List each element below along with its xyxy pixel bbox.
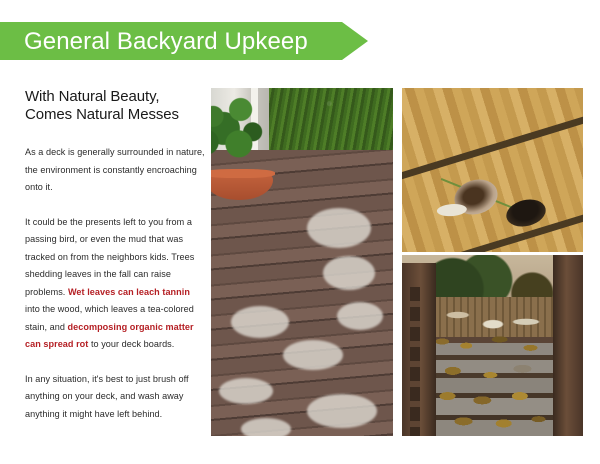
subtitle-line-1: With Natural Beauty, — [25, 88, 205, 106]
mud-splatter — [307, 394, 377, 428]
mud-splatter — [323, 256, 375, 290]
photo-deck-dirty — [211, 88, 393, 436]
page-title: General Backyard Upkeep — [24, 23, 308, 61]
photo-leafy-stairs — [402, 255, 583, 436]
mud-splatter — [219, 378, 273, 404]
left-railing — [402, 263, 436, 436]
text-run: It could be the presents left to you fro… — [25, 217, 194, 297]
paragraph-intro: As a deck is generally surrounded in nat… — [25, 144, 205, 197]
subtitle-line-2: Comes Natural Messes — [25, 106, 205, 124]
text-run: In any situation, it's best to just brus… — [25, 374, 189, 419]
paragraph-sources-of-mess: It could be the presents left to you fro… — [25, 214, 205, 354]
right-railing — [553, 255, 583, 436]
subtitle: With Natural Beauty, Comes Natural Messe… — [25, 88, 205, 124]
mud-splatter — [241, 418, 291, 436]
mud-splatter — [231, 306, 289, 338]
photo-bird-droppings — [402, 88, 583, 252]
mud-splatter — [283, 340, 343, 370]
text-run: to your deck boards. — [88, 339, 174, 349]
mud-splatter — [307, 208, 371, 248]
article-text-column: With Natural Beauty, Comes Natural Messe… — [25, 88, 205, 423]
text-run: As a deck is generally surrounded in nat… — [25, 147, 205, 192]
highlight-tannin: Wet leaves can leach tannin — [68, 287, 190, 297]
paragraph-advice: In any situation, it's best to just brus… — [25, 371, 205, 424]
mud-splatter — [337, 302, 383, 330]
fallen-leaves-region — [426, 331, 560, 436]
potted-plant — [211, 94, 275, 180]
